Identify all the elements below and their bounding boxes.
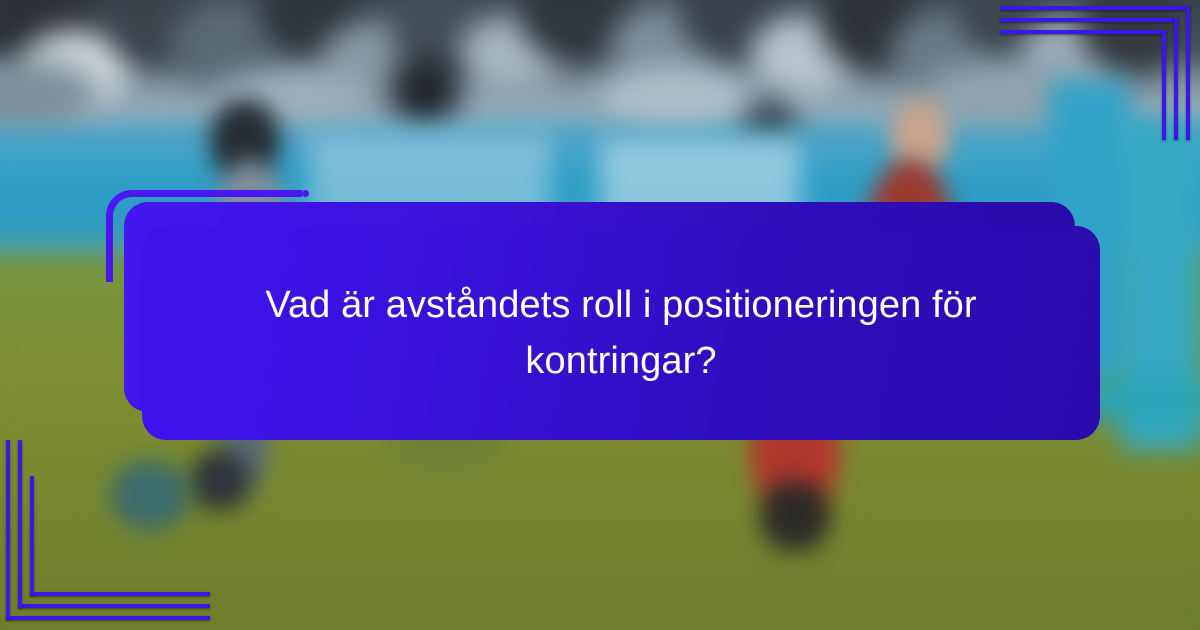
question-title: Vad är avståndets roll i positioneringen… [142,226,1100,440]
corner-lines-bottom-left [0,440,210,630]
cover-image: Vad är avståndets roll i positioneringen… [0,0,1200,630]
corner-lines-top-right [1000,0,1200,140]
